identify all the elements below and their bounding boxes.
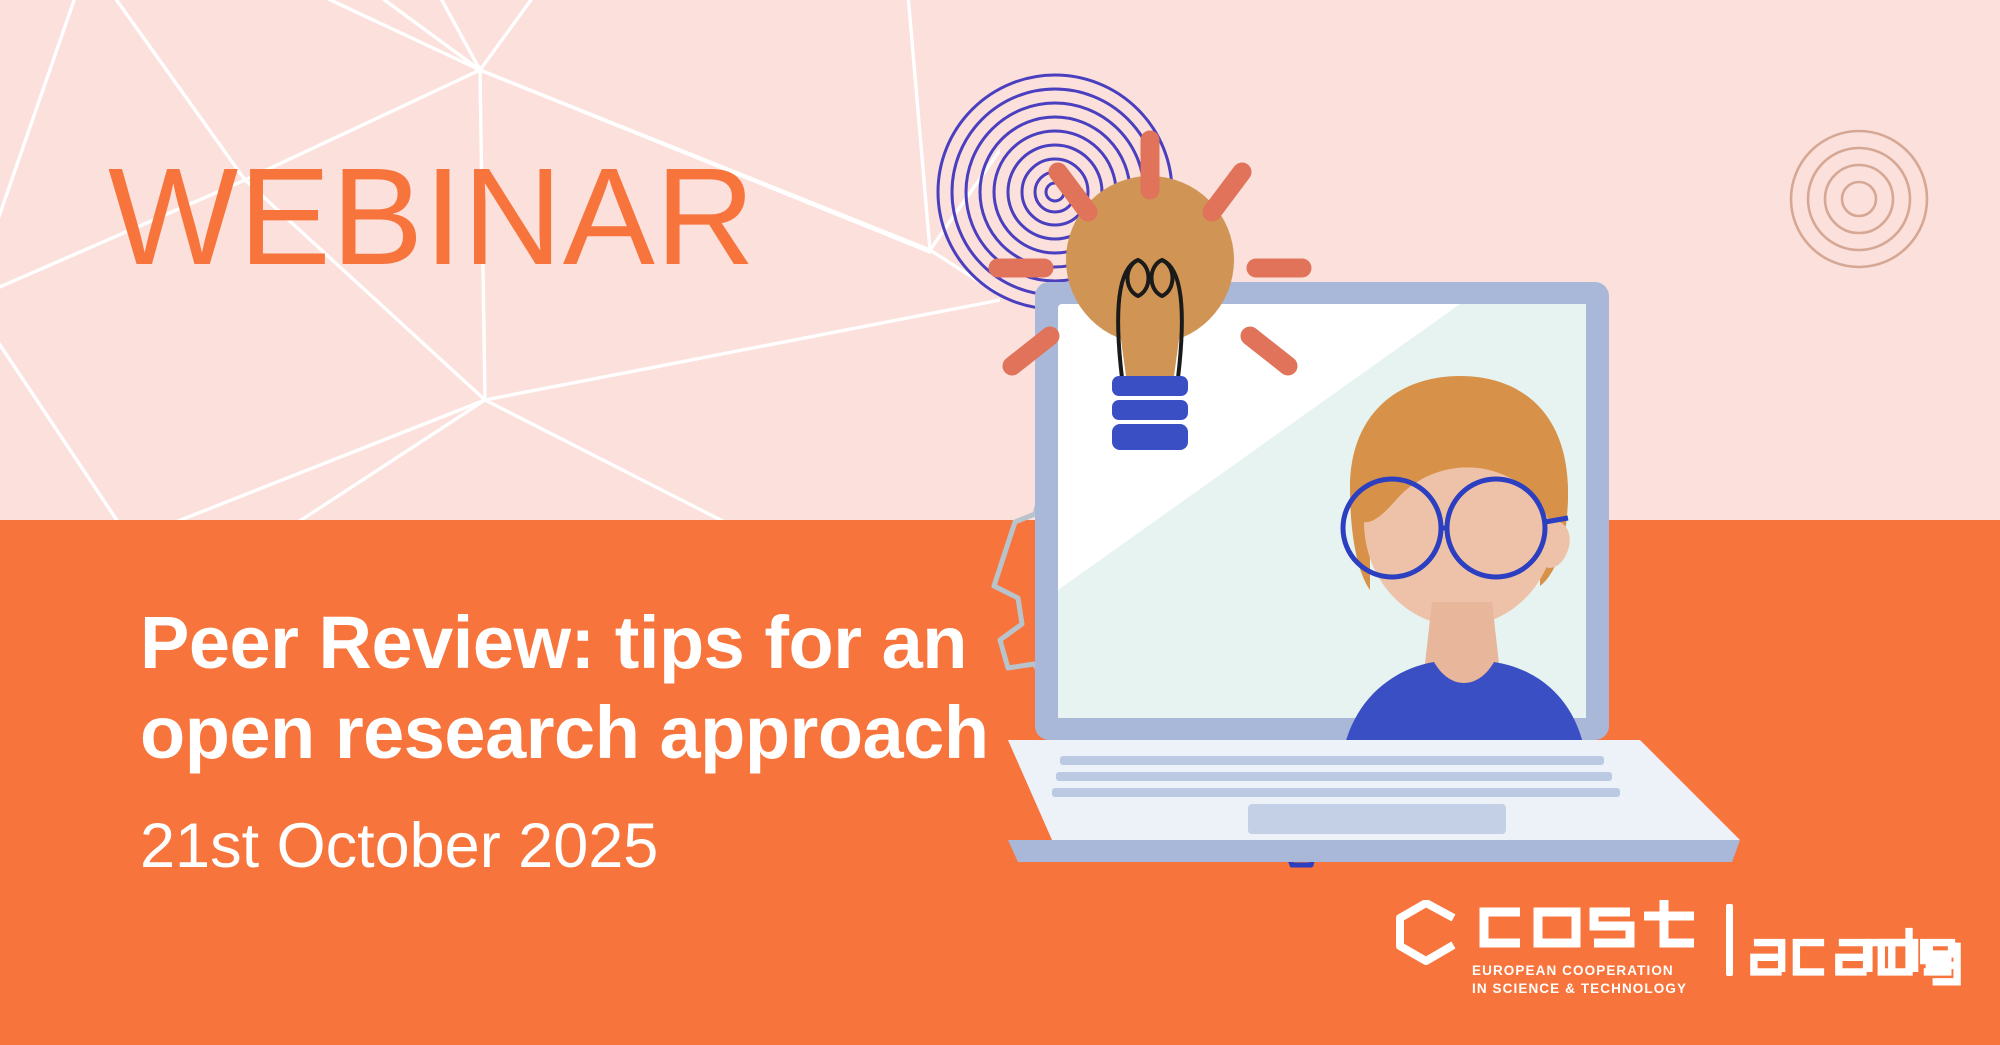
laptop-illustration [1040,150,1820,870]
lightbulb-base [1112,376,1188,450]
laptop-keyboard [1052,756,1620,797]
cost-academy-logo: EUROPEAN COOPERATION IN SCIENCE & TECHNO… [1390,896,1970,1006]
cost-wordmark [1472,896,1704,952]
laptop-base-edge [1008,840,1740,862]
title-line-1: Peer Review: tips for an [140,598,1160,688]
webinar-title: Peer Review: tips for an open research a… [140,598,1160,779]
webinar-banner: WEBINAR Peer Review: tips for an open re… [0,0,2000,1045]
cost-tagline-line-1: EUROPEAN COOPERATION [1472,962,1704,979]
kicker-webinar: WEBINAR [108,148,756,286]
laptop-trackpad [1248,804,1506,834]
cost-tagline-line-2: IN SCIENCE & TECHNOLOGY [1472,980,1704,997]
title-line-2: open research approach [140,688,1160,778]
webinar-date: 21st October 2025 [140,812,658,881]
logo-divider [1726,904,1733,976]
cost-wordmark-block: EUROPEAN COOPERATION IN SCIENCE & TECHNO… [1472,896,1704,998]
cost-hexagon-icon [1390,900,1462,980]
lightbulb-neck [1118,318,1182,376]
academy-wordmark-tail [1864,914,1970,994]
